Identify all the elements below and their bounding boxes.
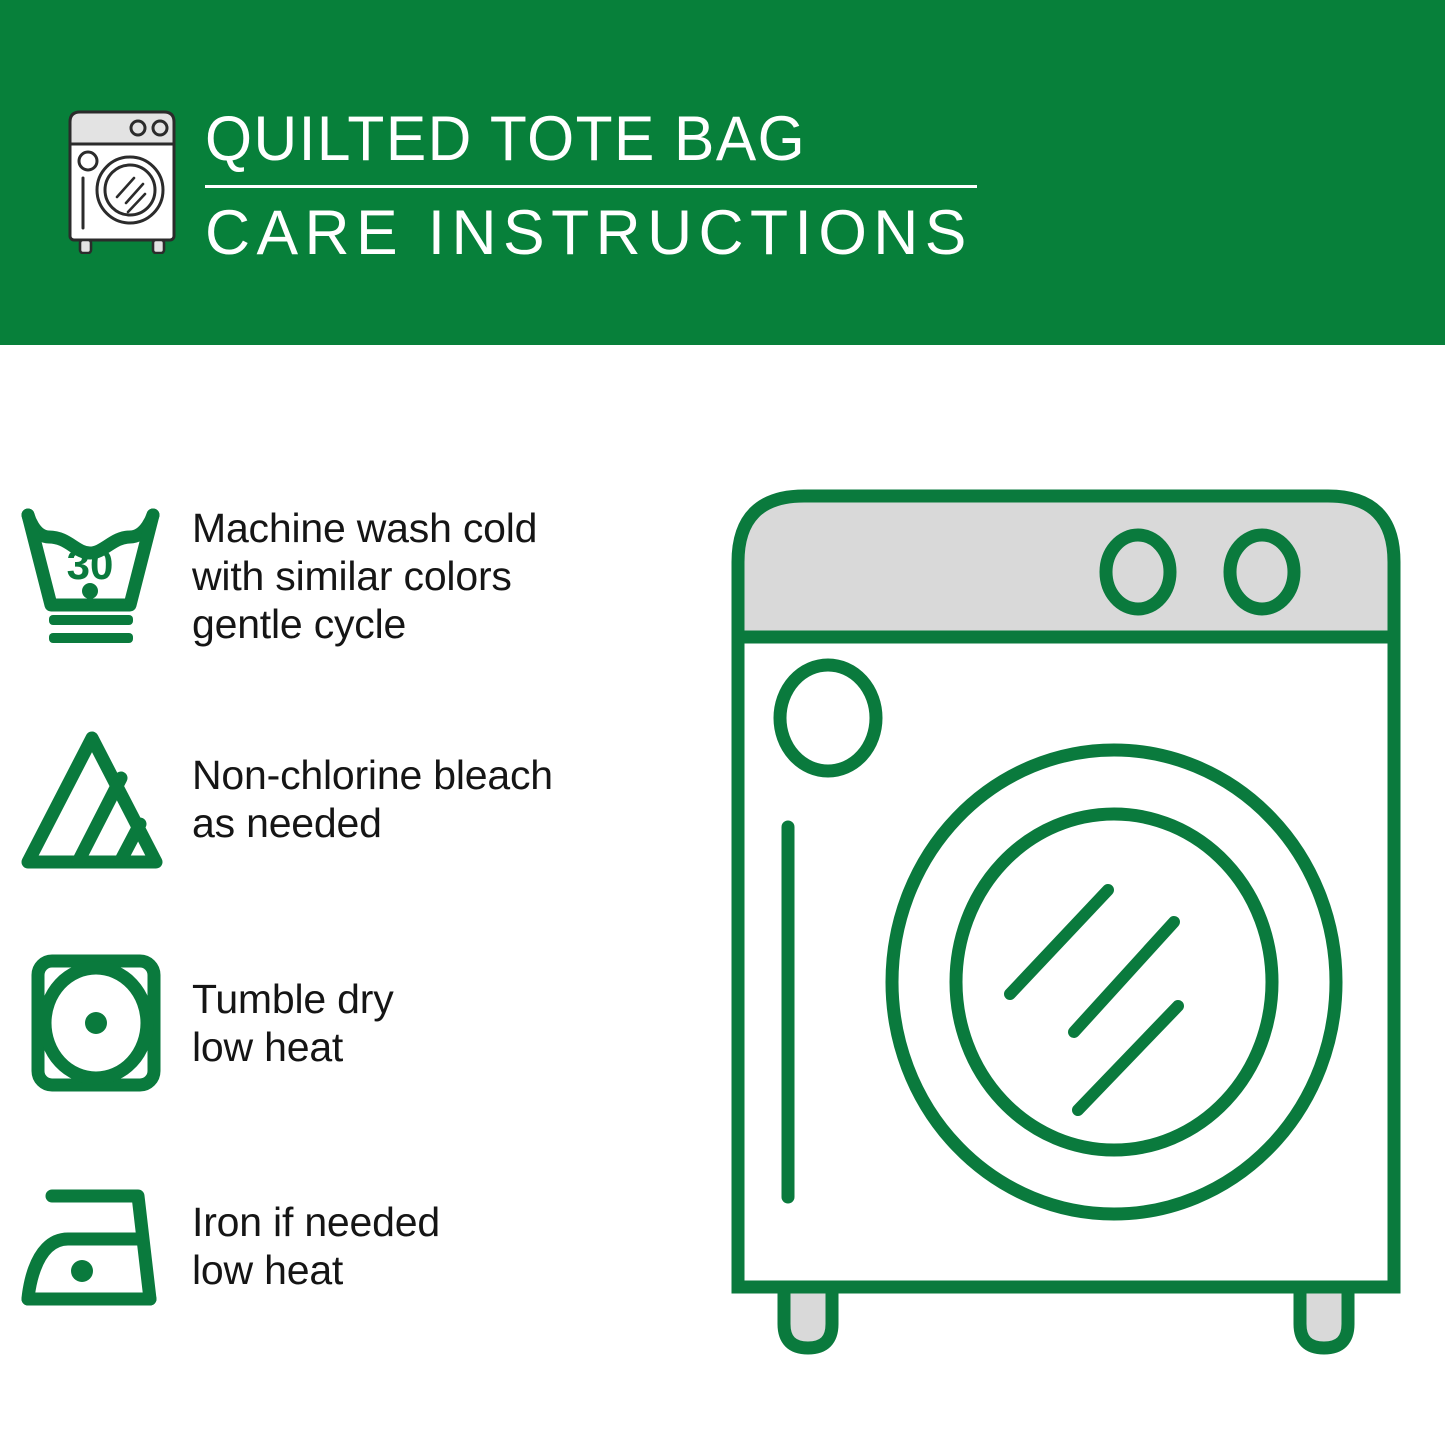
tumble-dry-icon — [0, 935, 192, 1110]
care-row-machine-wash: 30 Machine wash cold with similar colors… — [0, 488, 700, 663]
care-row-bleach: Non-chlorine bleach as needed — [0, 711, 700, 886]
care-label-tumble-dry: Tumble dry low heat — [192, 975, 394, 1071]
header-banner: QUILTED TOTE BAG CARE INSTRUCTIONS — [0, 0, 1445, 345]
wash-tub-30-icon: 30 — [0, 488, 192, 663]
care-row-iron: Iron if needed low heat — [0, 1158, 700, 1333]
washing-machine-logo-icon — [62, 104, 182, 254]
page-subtitle: CARE INSTRUCTIONS — [205, 197, 987, 269]
bleach-triangle-icon — [0, 711, 192, 886]
care-label-machine-wash: Machine wash cold with similar colors ge… — [192, 504, 537, 648]
iron-icon — [0, 1158, 192, 1333]
title-divider — [205, 185, 977, 188]
header-text-block: QUILTED TOTE BAG CARE INSTRUCTIONS — [205, 104, 995, 269]
care-label-bleach: Non-chlorine bleach as needed — [192, 751, 553, 847]
care-instructions-page: QUILTED TOTE BAG CARE INSTRUCTIONS — [0, 0, 1445, 1445]
care-label-iron: Iron if needed low heat — [192, 1198, 440, 1294]
washing-machine-illustration — [716, 462, 1416, 1372]
svg-text:30: 30 — [67, 541, 114, 588]
care-row-tumble-dry: Tumble dry low heat — [0, 935, 700, 1110]
page-title: QUILTED TOTE BAG — [205, 104, 963, 174]
care-instruction-list: 30 Machine wash cold with similar colors… — [0, 345, 700, 1445]
